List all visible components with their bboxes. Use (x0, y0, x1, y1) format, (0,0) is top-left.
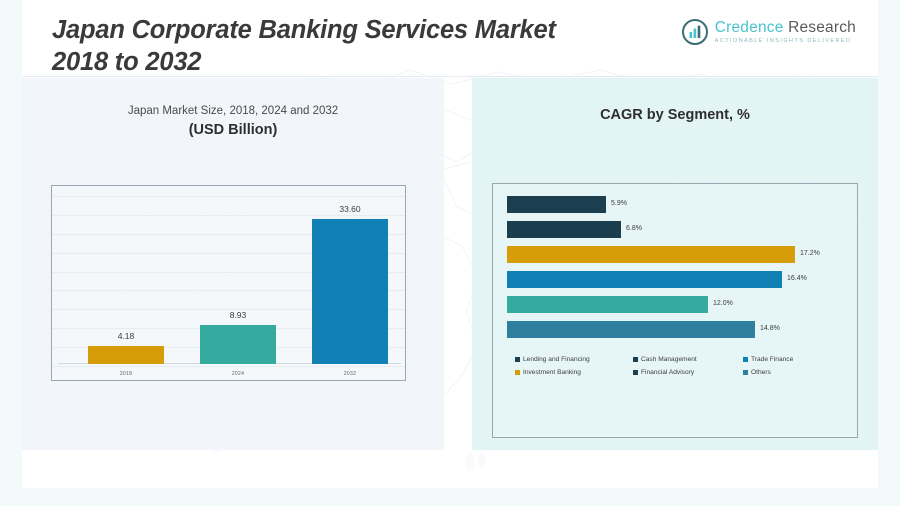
legend-swatch-icon (743, 357, 748, 362)
horizontal-bar[interactable] (507, 296, 708, 313)
cagr-legend: Lending and FinancingCash ManagementTrad… (515, 356, 845, 382)
horizontal-bar-row: 14.8% (507, 321, 845, 338)
horizontal-bar[interactable] (507, 246, 795, 263)
market-size-panel: Japan Market Size, 2018, 2024 and 2032 (… (22, 78, 444, 450)
brand-name: Credence Research (715, 20, 856, 36)
cagr-title: CAGR by Segment, % (472, 107, 878, 123)
vertical-bar[interactable] (312, 219, 388, 364)
legend-item-label: Cash Management (641, 356, 697, 363)
vertical-bar-category-label: 2024 (188, 371, 288, 377)
legend-item-label: Lending and Financing (523, 356, 590, 363)
horizontal-bar-row: 17.2% (507, 246, 845, 263)
vertical-bar-group: 4.188.9333.60 (52, 200, 405, 364)
market-size-plot-area: 4.188.9333.60 201820242032 (51, 185, 406, 381)
horizontal-bar-group: 5.9%6.8%17.2%16.4%12.0%14.8% (507, 196, 845, 344)
horizontal-bar-row: 12.0% (507, 296, 845, 313)
horizontal-bar-value-label: 5.9% (611, 200, 627, 207)
brand-name-first: Credence (715, 19, 784, 36)
legend-swatch-icon (743, 370, 748, 375)
horizontal-bar-value-label: 14.8% (760, 325, 780, 332)
market-size-subtitle: Japan Market Size, 2018, 2024 and 2032 (22, 105, 444, 117)
page-title-line-2: 2018 to 2032 (52, 46, 612, 78)
horizontal-bar-row: 16.4% (507, 271, 845, 288)
horizontal-bar-value-label: 17.2% (800, 250, 820, 257)
horizontal-bar-value-label: 16.4% (787, 275, 807, 282)
legend-item[interactable]: Cash Management (633, 356, 743, 363)
legend-item-label: Trade Finance (751, 356, 793, 363)
vertical-bar-slot: 4.18 (76, 200, 176, 364)
brand-tagline: Actionable Insights Delivered (715, 39, 856, 44)
market-size-unit-title: (USD Billion) (22, 122, 444, 138)
legend-item[interactable]: Others (743, 369, 838, 376)
legend-swatch-icon (633, 370, 638, 375)
legend-item[interactable]: Trade Finance (743, 356, 838, 363)
legend-swatch-icon (515, 357, 520, 362)
legend-item[interactable]: Lending and Financing (515, 356, 633, 363)
legend-item[interactable]: Financial Advisory (633, 369, 743, 376)
horizontal-bar[interactable] (507, 196, 606, 213)
horizontal-bar[interactable] (507, 321, 755, 338)
bar-chart-circle-icon (682, 19, 708, 45)
vertical-bar-category-label: 2018 (76, 371, 176, 377)
legend-swatch-icon (515, 370, 520, 375)
horizontal-bar[interactable] (507, 271, 782, 288)
vertical-bar-value-label: 8.93 (188, 310, 288, 320)
bottom-edge-tint (0, 488, 900, 506)
header-divider (22, 76, 878, 77)
horizontal-bar[interactable] (507, 221, 621, 238)
vertical-bar-value-label: 33.60 (300, 204, 400, 214)
vertical-bar[interactable] (200, 325, 276, 364)
cagr-plot-area: 5.9%6.8%17.2%16.4%12.0%14.8% Lending and… (492, 183, 858, 438)
horizontal-bar-value-label: 12.0% (713, 300, 733, 307)
gridline (52, 366, 405, 367)
brand-logo[interactable]: Credence Research Actionable Insights De… (682, 19, 856, 45)
brand-name-second: Research (788, 19, 856, 36)
vertical-bar-category-label: 2032 (300, 371, 400, 377)
legend-item-label: Financial Advisory (641, 369, 694, 376)
cagr-panel: CAGR by Segment, % 5.9%6.8%17.2%16.4%12.… (472, 78, 878, 450)
brand-logo-text: Credence Research Actionable Insights De… (715, 20, 856, 44)
horizontal-bar-row: 5.9% (507, 196, 845, 213)
horizontal-bar-value-label: 6.8% (626, 225, 642, 232)
legend-item-label: Others (751, 369, 771, 376)
vertical-bar-slot: 8.93 (188, 200, 288, 364)
page-title-line-1: Japan Corporate Banking Services Market (52, 14, 612, 46)
infographic-slide: Japan Corporate Banking Services Market … (0, 0, 900, 506)
vertical-bar-value-label: 4.18 (76, 331, 176, 341)
vertical-bar[interactable] (88, 346, 164, 364)
vertical-bar-slot: 33.60 (300, 200, 400, 364)
legend-swatch-icon (633, 357, 638, 362)
page-title: Japan Corporate Banking Services Market … (52, 14, 612, 78)
horizontal-bar-row: 6.8% (507, 221, 845, 238)
gridline (52, 196, 405, 197)
header: Japan Corporate Banking Services Market … (0, 0, 900, 78)
legend-item-label: Investment Banking (523, 369, 581, 376)
legend-item[interactable]: Investment Banking (515, 369, 633, 376)
